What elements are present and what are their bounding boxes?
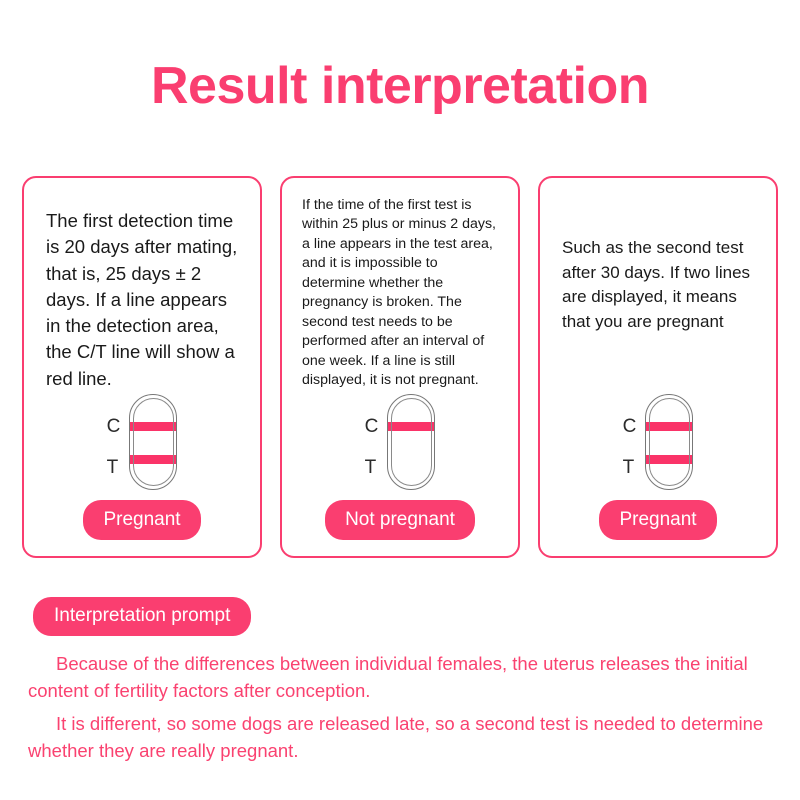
interpretation-card-2: If the time of the first test is within … xyxy=(280,176,520,558)
interpretation-card-3: Such as the second test after 30 days. I… xyxy=(538,176,778,558)
control-line-band xyxy=(130,422,176,431)
interpretation-cards-row: The first detection time is 20 days afte… xyxy=(22,176,778,558)
test-line-band xyxy=(130,455,176,464)
card-description: The first detection time is 20 days afte… xyxy=(36,192,248,392)
interpretation-prompt-text: Because of the differences between indiv… xyxy=(28,650,772,770)
card-description: Such as the second test after 30 days. I… xyxy=(552,192,764,335)
test-strip-area: C T xyxy=(294,391,506,496)
interpretation-card-1: The first detection time is 20 days afte… xyxy=(22,176,262,558)
result-badge: Pregnant xyxy=(599,500,716,540)
test-strip: C T xyxy=(365,394,436,490)
prompt-paragraph-1: Because of the differences between indiv… xyxy=(28,650,772,705)
control-line-band xyxy=(388,422,434,431)
control-line-label: C xyxy=(623,416,637,436)
test-line-label: T xyxy=(623,457,637,477)
test-line-band xyxy=(646,455,692,464)
strip-labels: C T xyxy=(623,394,637,490)
test-strip: C T xyxy=(107,394,178,490)
result-badge: Not pregnant xyxy=(325,500,475,540)
test-strip-area: C T xyxy=(36,392,248,496)
control-line-band xyxy=(646,422,692,431)
test-cassette-icon xyxy=(645,394,693,490)
test-cassette-icon xyxy=(129,394,177,490)
strip-labels: C T xyxy=(107,394,121,490)
control-line-label: C xyxy=(365,416,379,436)
prompt-paragraph-2: It is different, so some dogs are releas… xyxy=(28,710,772,765)
test-cassette-icon xyxy=(387,394,435,490)
card-description: If the time of the first test is within … xyxy=(294,192,506,391)
strip-labels: C T xyxy=(365,394,379,490)
test-strip-area: C T xyxy=(552,335,764,496)
result-badge: Pregnant xyxy=(83,500,200,540)
test-line-label: T xyxy=(107,457,121,477)
page-title: Result interpretation xyxy=(0,58,800,115)
test-strip: C T xyxy=(623,394,694,490)
interpretation-prompt-badge: Interpretation prompt xyxy=(33,597,251,636)
test-line-label: T xyxy=(365,457,379,477)
control-line-label: C xyxy=(107,416,121,436)
